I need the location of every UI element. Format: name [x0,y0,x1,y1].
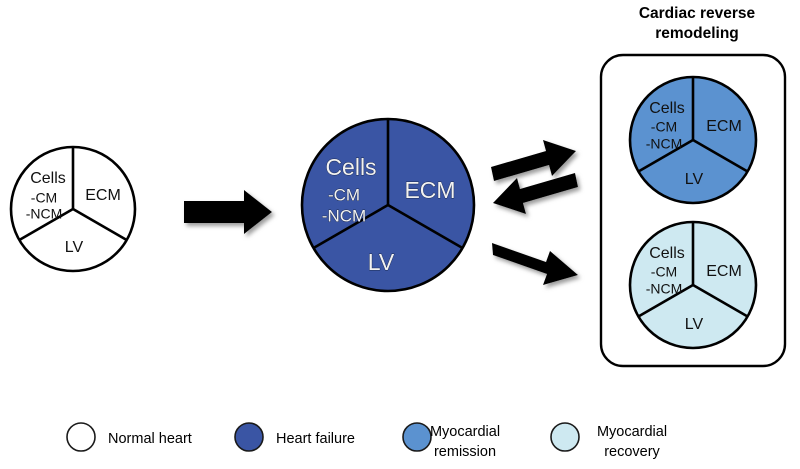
myocardial-remission-label-lv: LV [685,171,704,188]
panel-title: Cardiac reverse remodeling [639,5,756,42]
arrow-to-remission-shape [491,140,576,181]
legend-swatch-myocardial-recovery [551,423,579,451]
arrow-to-remission [491,140,576,181]
arrow-from-remission [493,173,578,214]
myocardial-remission-pie[interactable]: Cells -CM -NCM ECM LV [630,77,756,203]
legend-label-normal-heart: Normal heart [108,431,192,447]
normal-heart-label-ecm: ECM [85,187,121,204]
myocardial-recovery-label-ncm: -NCM [646,281,683,297]
arrow-progression [184,190,272,234]
legend-label-myocardial-recovery-line1: Myocardial [597,424,667,440]
panel-title-line2: remodeling [655,25,739,42]
legend-swatch-normal-heart [67,423,95,451]
myocardial-recovery-label-cells: Cells [649,245,685,262]
legend-item-myocardial-recovery[interactable]: Myocardial recovery [551,423,667,460]
myocardial-recovery-label-ecm: ECM [706,263,742,280]
arrow-to-recovery-shape [492,243,578,285]
heart-failure-label-ncm: -NCM [322,206,366,225]
myocardial-remission-label-ecm: ECM [706,118,742,135]
legend: Normal heart Heart failure Myocardial re… [67,423,667,460]
legend-label-myocardial-remission-line2: remission [434,444,496,460]
normal-heart-label-cells: Cells [30,170,66,187]
heart-failure-label-ecm: ECM [404,177,455,203]
myocardial-recovery-label-cm: -CM [651,264,677,280]
legend-item-normal-heart[interactable]: Normal heart [67,423,192,451]
legend-label-myocardial-recovery-line2: recovery [604,444,660,460]
legend-item-myocardial-remission[interactable]: Myocardial remission [403,423,500,460]
normal-heart-label-ncm: -NCM [26,206,63,222]
myocardial-remission-label-cm: -CM [651,119,677,135]
heart-failure-label-cells: Cells [325,154,376,180]
normal-heart-label-lv: LV [65,239,84,256]
normal-heart-pie[interactable]: Cells -CM -NCM ECM LV [11,147,135,271]
arrow-progression-shape [184,190,272,234]
heart-failure-label-cm: -CM [328,185,360,204]
arrow-to-recovery [492,243,578,285]
normal-heart-label-cm: -CM [31,190,57,206]
diagram-svg: Cardiac reverse remodeling Cells -CM -NC… [0,0,800,469]
legend-label-heart-failure: Heart failure [276,431,355,447]
legend-item-heart-failure[interactable]: Heart failure [235,423,355,451]
figure-canvas: Cardiac reverse remodeling Cells -CM -NC… [0,0,800,469]
legend-swatch-heart-failure [235,423,263,451]
legend-swatch-myocardial-remission [403,423,431,451]
myocardial-recovery-label-lv: LV [685,316,704,333]
panel-title-line1: Cardiac reverse [639,5,756,22]
heart-failure-pie[interactable]: Cells -CM -NCM ECM LV [302,119,474,291]
myocardial-recovery-pie[interactable]: Cells -CM -NCM ECM LV [630,222,756,348]
legend-label-myocardial-remission-line1: Myocardial [430,424,500,440]
heart-failure-label-lv: LV [368,249,395,275]
arrow-from-remission-shape [493,173,578,214]
myocardial-remission-label-ncm: -NCM [646,136,683,152]
myocardial-remission-label-cells: Cells [649,100,685,117]
